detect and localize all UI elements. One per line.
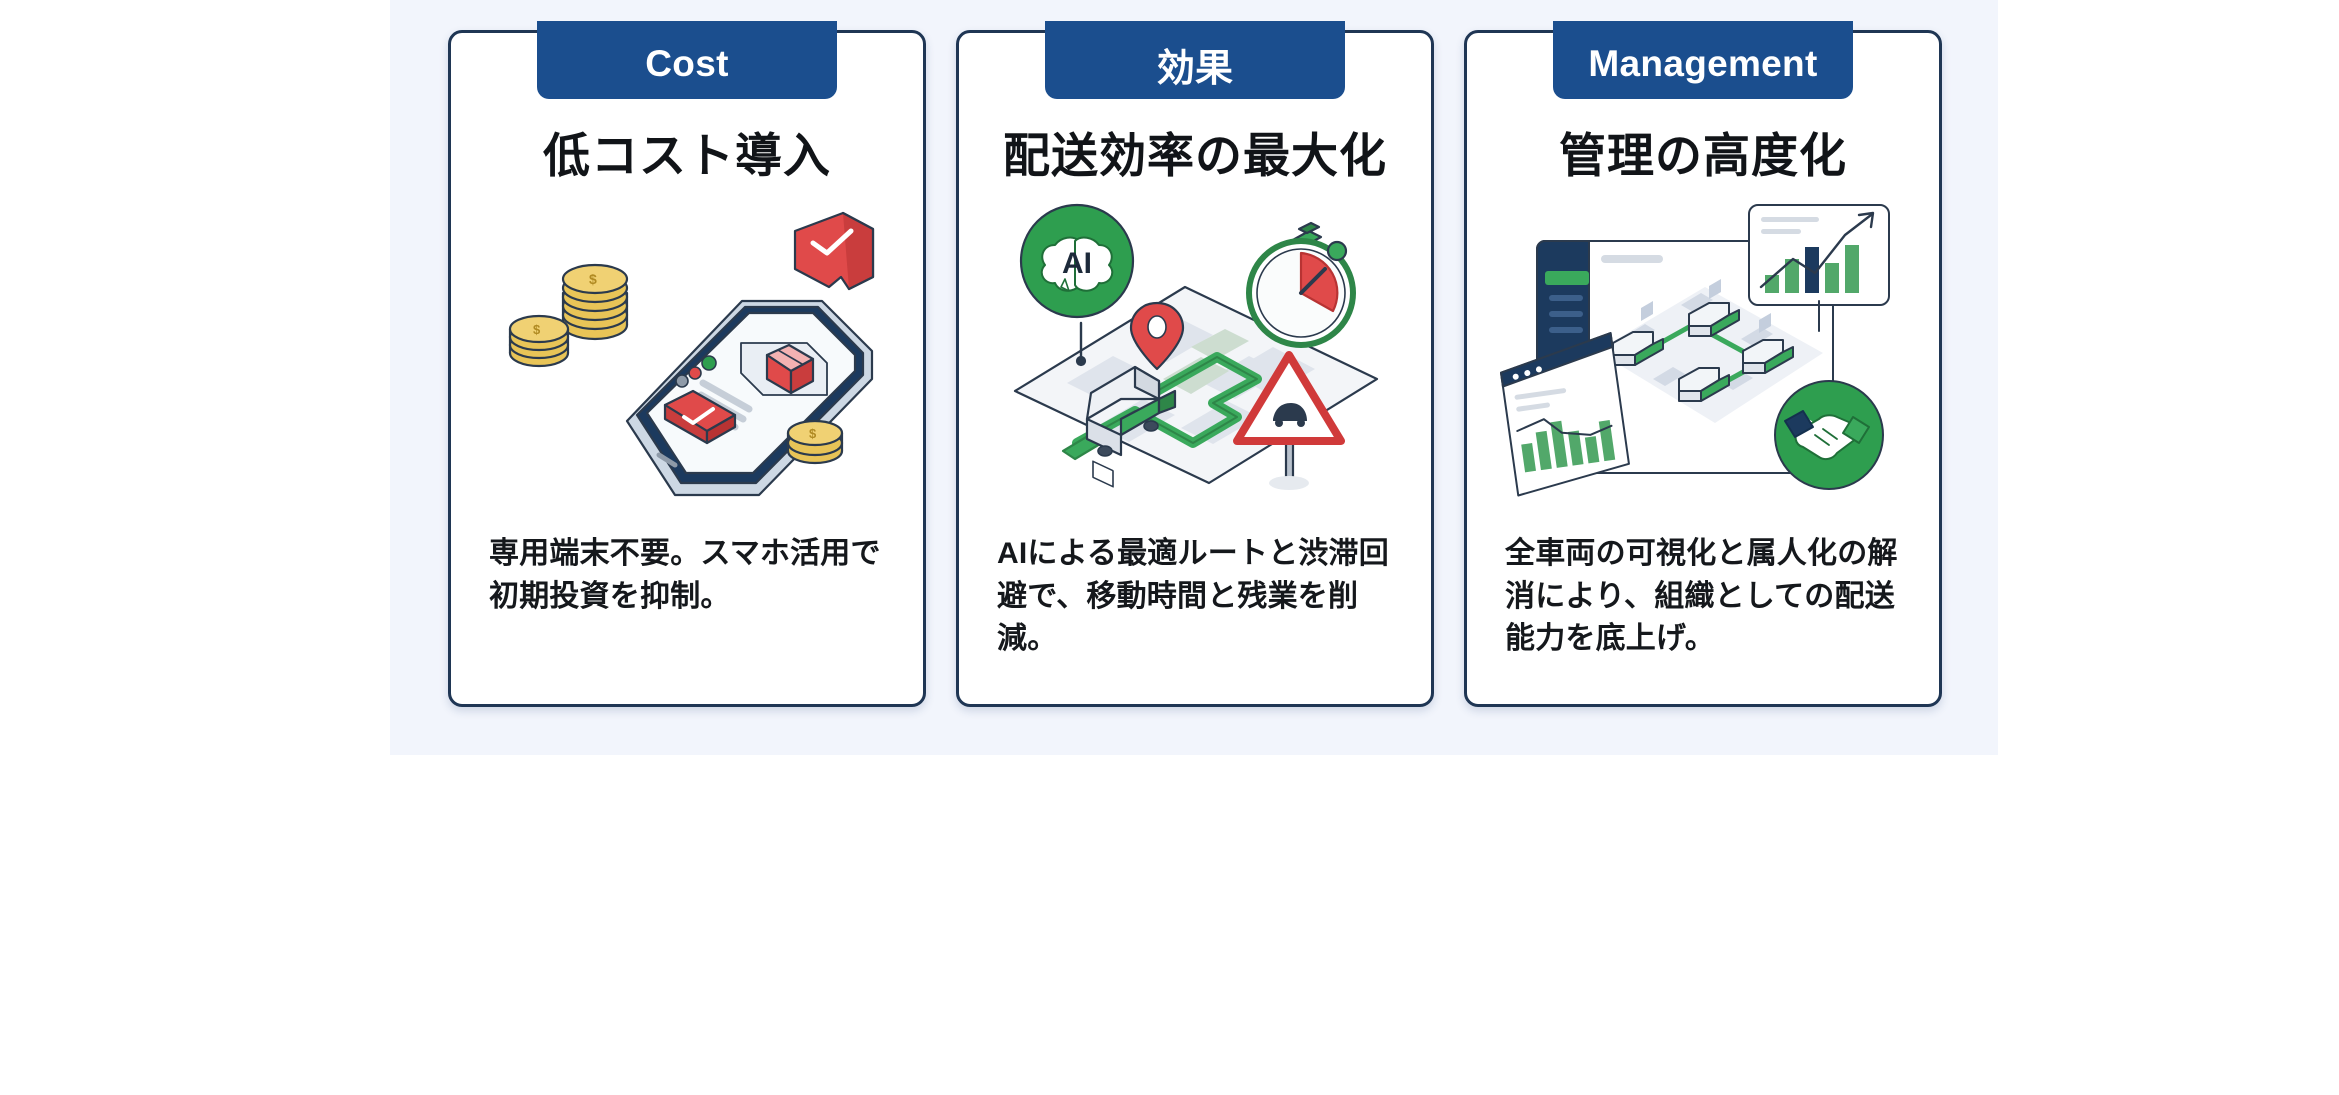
check-badge-icon — [795, 213, 873, 289]
feature-card-effect[interactable]: 効果 配送効率の最大化 — [956, 30, 1434, 707]
card-body-effect: AIによる最適ルートと渋滞回避で、移動時間と残業を削減。 — [997, 533, 1403, 661]
feature-card-management[interactable]: Management 管理の高度化 — [1464, 30, 1942, 707]
card-body-management: 全車両の可視化と属人化の解消により、組織としての配送能力を底上げ。 — [1505, 533, 1911, 661]
dashboard-fleet-map-charts-handshake-illustration — [1479, 183, 1927, 513]
feature-cards-row: Cost 低コスト導入 — [448, 30, 1942, 707]
svg-text:$: $ — [533, 322, 541, 337]
svg-text:$: $ — [809, 426, 817, 441]
card-heading-effect: 配送効率の最大化 — [959, 117, 1431, 186]
card-badge-management: Management — [1553, 21, 1853, 99]
card-body-cost: 専用端末不要。スマホ活用で初期投資を抑制。 — [489, 533, 895, 618]
ai-label: AI — [1062, 247, 1092, 280]
coin-stack-tall-icon: $ — [563, 265, 627, 339]
stopwatch-icon — [1249, 223, 1353, 345]
svg-text:$: $ — [589, 271, 597, 287]
card-badge-effect: 効果 — [1045, 21, 1345, 99]
card-badge-cost: Cost — [537, 21, 837, 99]
card-heading-management: 管理の高度化 — [1467, 117, 1939, 186]
coin-single-icon: $ — [788, 421, 842, 463]
coin-stack-short-icon: $ — [510, 316, 568, 366]
ai-route-map-truck-stopwatch-illustration: AI — [971, 183, 1419, 513]
handshake-badge-icon — [1775, 381, 1883, 489]
card-heading-cost: 低コスト導入 — [451, 117, 923, 186]
feature-card-cost[interactable]: Cost 低コスト導入 — [448, 30, 926, 707]
smartphone-coins-package-illustration: $ $ — [463, 183, 911, 513]
smartphone-icon — [627, 301, 872, 495]
